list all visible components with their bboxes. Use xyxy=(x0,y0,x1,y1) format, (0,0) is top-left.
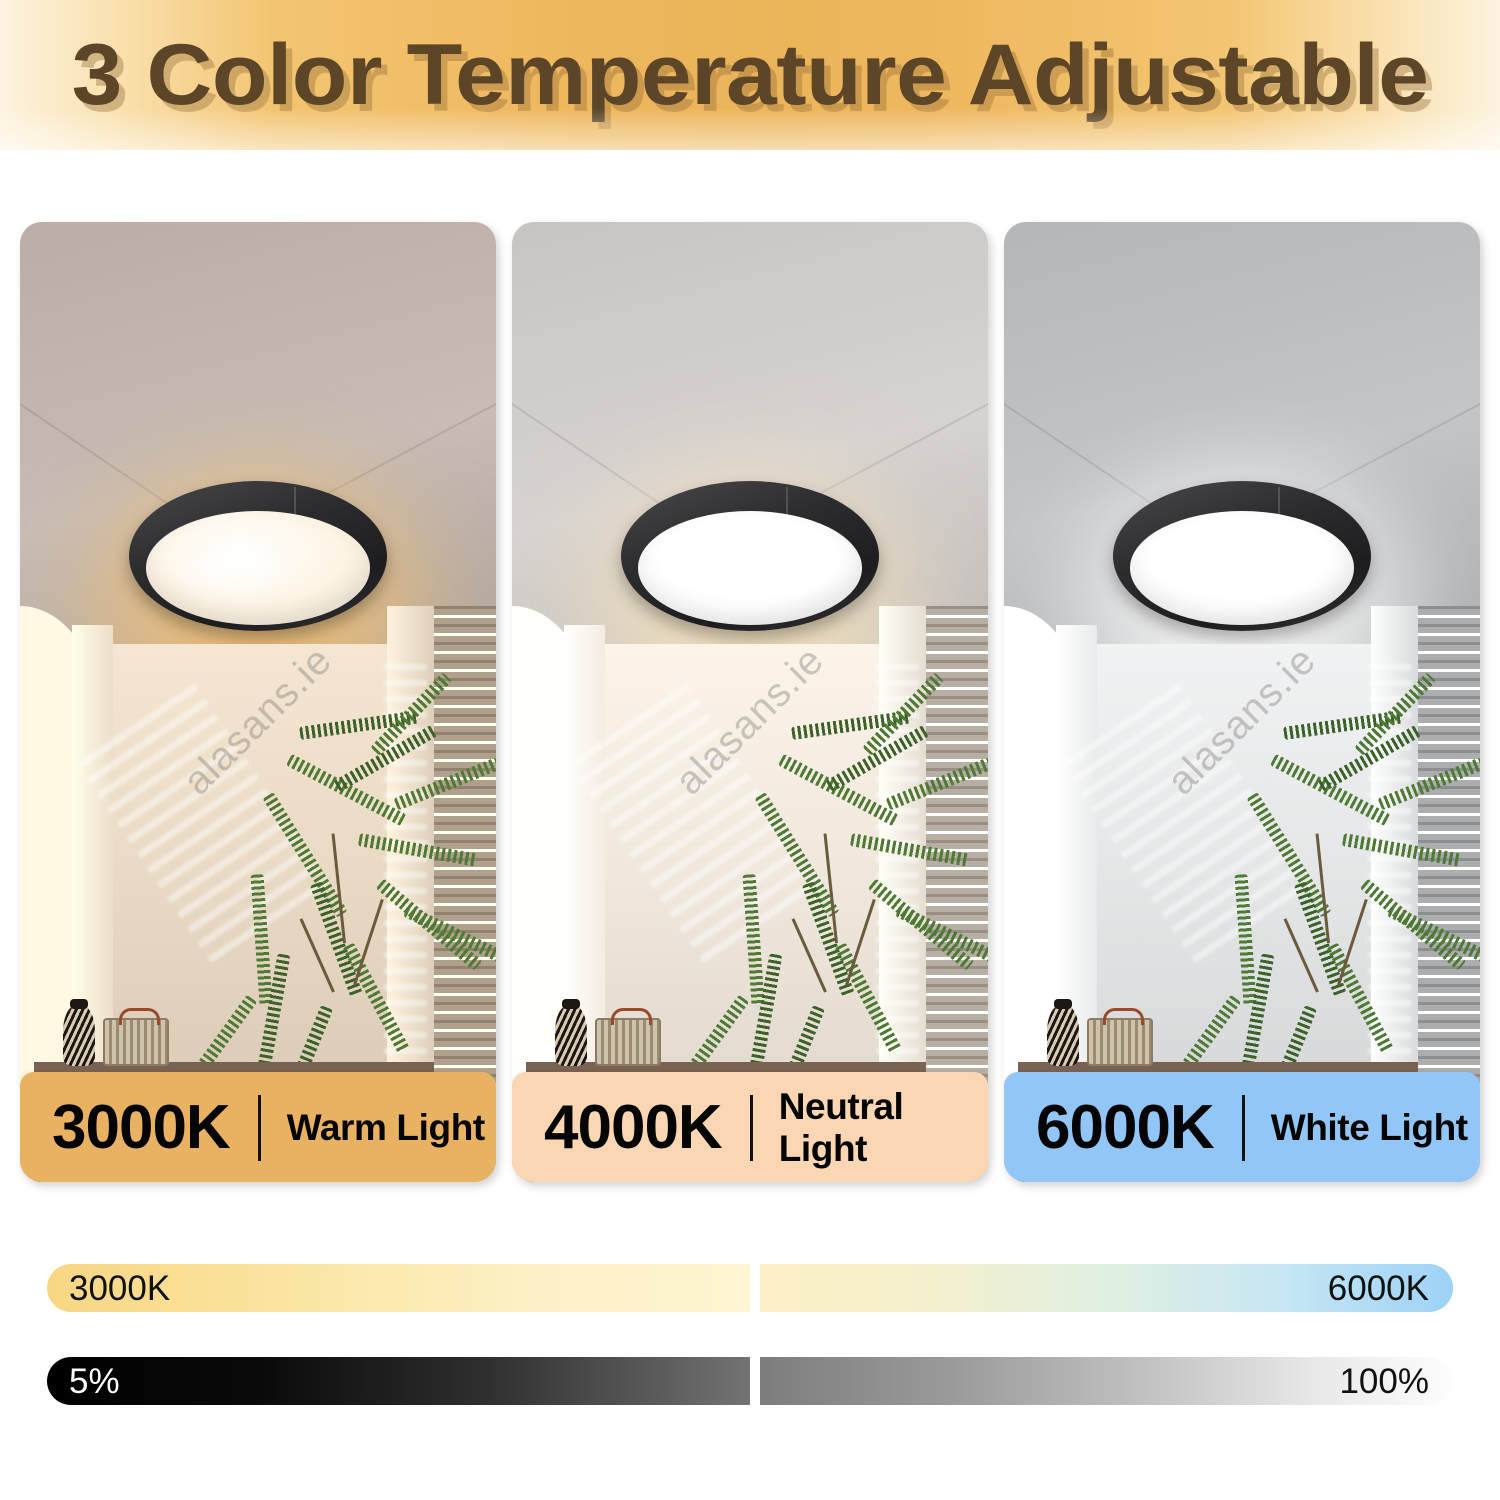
plant-frond xyxy=(393,757,496,810)
plant-frond xyxy=(404,904,496,965)
temp-bar-right-segment[interactable]: 6000K xyxy=(760,1264,1453,1312)
light-name: White Light xyxy=(1271,1107,1468,1149)
blind-slat xyxy=(926,633,988,636)
badge-divider xyxy=(258,1095,261,1161)
blind-slat xyxy=(434,642,496,645)
plant-frond xyxy=(1377,757,1480,810)
decorative-vase xyxy=(1047,1006,1079,1066)
kelvin-value: 6000K xyxy=(1036,1097,1214,1159)
plant-frond xyxy=(251,874,273,1007)
blind-slat xyxy=(1418,624,1480,627)
fixture-lens xyxy=(638,511,862,625)
plant-frond xyxy=(1235,874,1257,1007)
temp-min-label: 3000K xyxy=(69,1271,170,1306)
plant-frond xyxy=(885,757,988,810)
potted-fern-plant xyxy=(712,683,979,1125)
plant-frond xyxy=(778,754,899,827)
blind-slat xyxy=(434,669,496,672)
fixture-lens xyxy=(146,511,370,625)
blind-slat xyxy=(434,660,496,663)
blind-slat xyxy=(1418,615,1480,618)
panel-warm-light[interactable]: alasans.ie 3000K Warm Light xyxy=(20,222,496,1182)
plant-frond xyxy=(849,833,969,867)
brightness-bar[interactable]: 5% 100% xyxy=(47,1357,1453,1405)
brightness-bar-gap xyxy=(750,1357,760,1405)
blind-slat xyxy=(1418,651,1480,654)
decorative-vase xyxy=(63,1006,95,1066)
temperature-badge-neutral: 4000K Neutral Light xyxy=(512,1072,988,1182)
plant-frond xyxy=(1388,904,1480,965)
brightness-bar-right-segment[interactable]: 100% xyxy=(760,1357,1453,1405)
room-scene: alasans.ie xyxy=(512,222,988,1182)
plant-frond xyxy=(1270,754,1391,827)
blind-slat xyxy=(926,606,988,609)
plant-frond xyxy=(342,942,410,1054)
header-banner: 3 Color Temperature Adjustable xyxy=(0,0,1500,150)
fixture-highlight xyxy=(186,550,285,589)
kelvin-value: 3000K xyxy=(52,1097,230,1159)
page-title: 3 Color Temperature Adjustable xyxy=(0,0,1500,150)
blind-slat xyxy=(926,642,988,645)
blind-slat xyxy=(1418,642,1480,645)
color-temperature-bar[interactable]: 3000K 6000K xyxy=(47,1264,1453,1312)
blind-slat xyxy=(926,669,988,672)
badge-divider xyxy=(750,1095,753,1161)
blind-slat xyxy=(926,624,988,627)
badge-divider xyxy=(1242,1095,1245,1161)
blind-slat xyxy=(434,606,496,609)
plant-frond xyxy=(286,754,407,827)
plant-frond xyxy=(834,942,902,1054)
blind-slat xyxy=(926,660,988,663)
panel-neutral-light[interactable]: alasans.ie 4000K Neutral Light xyxy=(512,222,988,1182)
fixture-highlight xyxy=(678,550,777,589)
brightness-min-label: 5% xyxy=(69,1364,120,1399)
potted-fern-plant xyxy=(1204,683,1471,1125)
blind-slat xyxy=(434,633,496,636)
plant-frond xyxy=(1326,942,1394,1054)
plant-frond xyxy=(743,874,765,1007)
temperature-badge-white: 6000K White Light xyxy=(1004,1072,1480,1182)
room-scene: alasans.ie xyxy=(1004,222,1480,1182)
fixture-highlight xyxy=(1170,550,1269,589)
kelvin-value: 4000K xyxy=(544,1097,722,1159)
panel-row: alasans.ie 3000K Warm Light xyxy=(20,222,1480,1182)
ceiling-light-fixture xyxy=(1113,481,1371,631)
blind-slat xyxy=(1418,606,1480,609)
woven-basket xyxy=(595,1018,661,1066)
blind-slat xyxy=(1418,660,1480,663)
brightness-max-label: 100% xyxy=(1339,1364,1429,1399)
room-scene: alasans.ie xyxy=(20,222,496,1182)
temp-bar-left-segment[interactable]: 3000K xyxy=(47,1264,750,1312)
light-name: Warm Light xyxy=(287,1107,485,1149)
temp-bar-gap xyxy=(750,1264,760,1312)
ceiling-light-fixture xyxy=(129,481,387,631)
panel-white-light[interactable]: alasans.ie 6000K White Light xyxy=(1004,222,1480,1182)
temp-max-label: 6000K xyxy=(1328,1271,1429,1306)
light-name: Neutral Light xyxy=(779,1086,988,1170)
blind-slat xyxy=(434,651,496,654)
plant-frond xyxy=(357,833,477,867)
blind-slat xyxy=(434,624,496,627)
woven-basket xyxy=(1087,1018,1153,1066)
temperature-badge-warm: 3000K Warm Light xyxy=(20,1072,496,1182)
blind-slat xyxy=(926,651,988,654)
woven-basket xyxy=(103,1018,169,1066)
blind-slat xyxy=(926,615,988,618)
decorative-vase xyxy=(555,1006,587,1066)
plant-frond xyxy=(896,904,988,965)
plant-frond xyxy=(1341,833,1461,867)
fixture-lens xyxy=(1130,511,1354,625)
blind-slat xyxy=(1418,669,1480,672)
blind-slat xyxy=(434,615,496,618)
potted-fern-plant xyxy=(220,683,487,1125)
brightness-bar-left-segment[interactable]: 5% xyxy=(47,1357,750,1405)
ceiling-light-fixture xyxy=(621,481,879,631)
blind-slat xyxy=(1418,633,1480,636)
